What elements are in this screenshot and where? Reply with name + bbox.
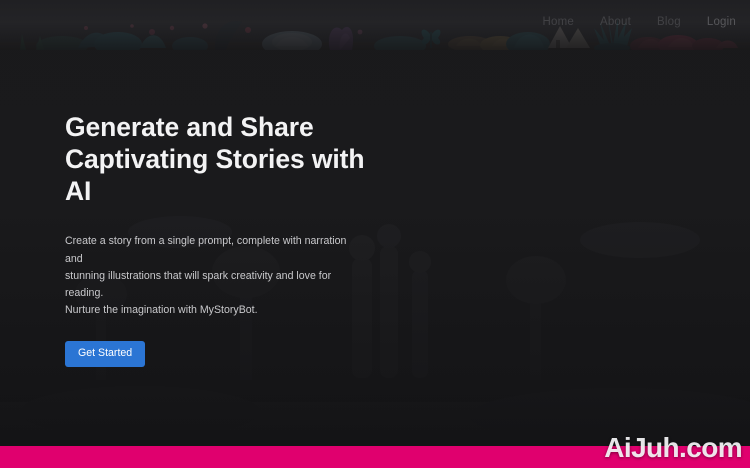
main-navigation: Home About Blog Login (542, 16, 736, 28)
nav-item-home[interactable]: Home (542, 16, 573, 28)
hero-description: Create a story from a single prompt, com… (65, 233, 347, 319)
nav-item-about[interactable]: About (600, 16, 631, 28)
nav-item-login[interactable]: Login (707, 16, 736, 28)
page-root: Home About Blog Login (0, 0, 750, 468)
watermark: AiJuh.com (604, 434, 742, 462)
hero-section: Generate and Share Captivating Stories w… (0, 50, 750, 446)
get-started-button[interactable]: Get Started (65, 341, 145, 367)
hero-content: Generate and Share Captivating Stories w… (65, 112, 395, 367)
nav-item-blog[interactable]: Blog (657, 16, 681, 28)
page-title: Generate and Share Captivating Stories w… (65, 112, 395, 207)
